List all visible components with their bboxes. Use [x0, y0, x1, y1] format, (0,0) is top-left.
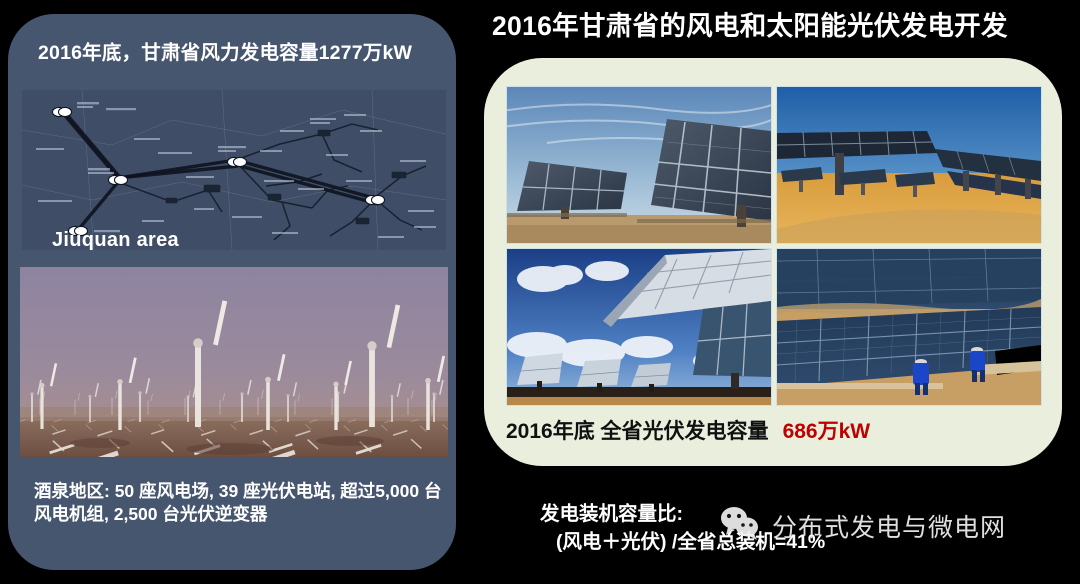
- power-grid-map: [22, 90, 446, 250]
- solar-panels-blue-sky: [506, 86, 772, 244]
- solar-panels-desert: [776, 86, 1042, 244]
- map-area-label: Jiuquan area: [52, 229, 179, 252]
- solar-field-workers: [776, 248, 1042, 406]
- watermark: 分布式发电与微电网: [718, 505, 1006, 546]
- solar-trackers-clouds: [506, 248, 772, 406]
- wind-farm-photo: [20, 267, 448, 457]
- pv-capacity-label: 2016年底 全省光伏发电容量: [506, 420, 769, 443]
- left-panel: 2016年底，甘肃省风力发电容量1277万kW: [8, 14, 456, 570]
- pv-capacity-value: 686万kW: [783, 420, 871, 443]
- left-panel-heading: 2016年底，甘肃省风力发电容量1277万kW: [38, 40, 438, 66]
- solar-photo-grid: [506, 86, 1042, 406]
- pv-capacity-caption: 2016年底 全省光伏发电容量686万kW: [506, 415, 870, 445]
- wechat-icon: [718, 505, 764, 546]
- left-panel-caption: 酒泉地区: 50 座风电场, 39 座光伏电站, 超过5,000 台风电机组, …: [34, 480, 444, 527]
- slide-root: 2016年底，甘肃省风力发电容量1277万kW: [0, 0, 1080, 584]
- page-title: 2016年甘肃省的风电和太阳能光伏发电开发: [492, 4, 1080, 43]
- watermark-text: 分布式发电与微电网: [772, 508, 1006, 544]
